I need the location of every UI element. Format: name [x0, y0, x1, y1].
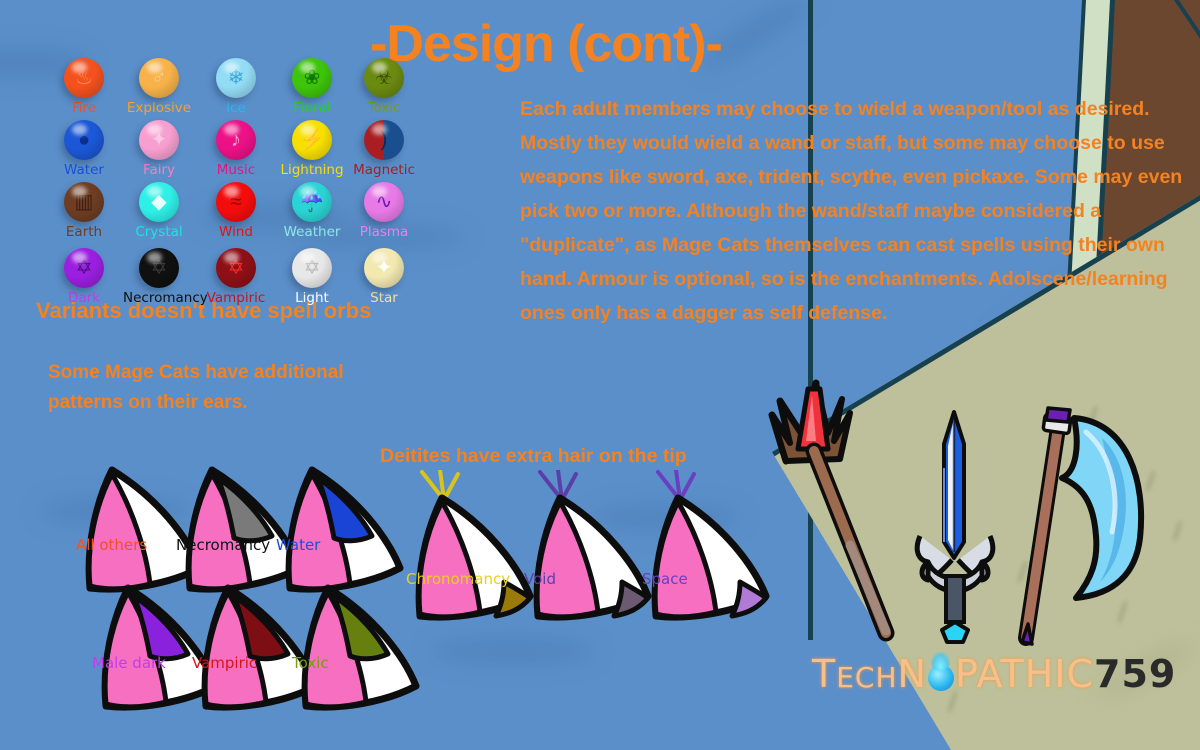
orb-cell-vampiric: ✡Vampiric [200, 248, 272, 306]
orb-glyph-weather: ☔ [292, 182, 332, 222]
orb-glyph-magnetic: ) [364, 120, 404, 160]
orb-cell-weather: ☔Weather [276, 182, 348, 240]
orb-cell-fairy: ✦Fairy [123, 120, 195, 178]
orb-glyph-toxic: ☣ [364, 58, 404, 98]
orb-cell-plasma: ∿Plasma [348, 182, 420, 240]
orb-label-water: Water [48, 162, 120, 178]
orb-cell-explosive: ♂Explosive [123, 58, 195, 116]
sword-weapon [900, 408, 1010, 653]
artist-watermark: TECHNPATHIC759 [812, 652, 1176, 696]
watermark-C: C [1067, 652, 1095, 696]
orb-label-light: Light [276, 290, 348, 306]
watermark-N: N [898, 652, 927, 696]
spell-orb-water-icon: ● [64, 120, 104, 160]
spell-orb-toxic-icon: ☣ [364, 58, 404, 98]
design-description: Each adult members may choose to wield a… [520, 92, 1200, 330]
orb-glyph-lightning: ⚡ [292, 120, 332, 160]
ear-label-space: Space [642, 570, 688, 588]
orb-cell-star: ✦Star [348, 248, 420, 306]
orb-label-star: Star [348, 290, 420, 306]
orb-label-music: Music [200, 162, 272, 178]
spell-orb-weather-icon: ☔ [292, 182, 332, 222]
orb-cell-necromancy: ✡Necromancy [123, 248, 195, 306]
spell-orb-light-icon: ✡ [292, 248, 332, 288]
watermark-ECH: ECH [836, 661, 897, 694]
orb-label-fairy: Fairy [123, 162, 195, 178]
ear-label-male-dark: Male dark [92, 654, 166, 672]
watermark-number: 759 [1094, 652, 1176, 696]
spell-orb-lightning-icon: ⚡ [292, 120, 332, 160]
spell-orb-star-icon: ✦ [364, 248, 404, 288]
orb-cell-music: ♪Music [200, 120, 272, 178]
page-title: -Design (cont)- [370, 14, 722, 74]
orb-cell-wind: ≈Wind [200, 182, 272, 240]
ear-label-necromancy: Necromancy [176, 536, 270, 554]
orb-cell-toxic: ☣Toxic [348, 58, 420, 116]
ear-label-vampiric: Vampiric [192, 654, 257, 672]
orb-label-necromancy: Necromancy [123, 290, 195, 306]
spell-orb-plasma-icon: ∿ [364, 182, 404, 222]
watermark-PATH: PATH [955, 652, 1054, 696]
orb-cell-lightning: ⚡Lightning [276, 120, 348, 178]
orb-label-magnetic: Magnetic [348, 162, 420, 178]
ear-label-toxic: Toxic [292, 654, 329, 672]
orb-cell-fire: ♨Fire [48, 58, 120, 116]
spell-orb-necromancy-icon: ✡ [139, 248, 179, 288]
orb-label-vampiric: Vampiric [200, 290, 272, 306]
orb-cell-ice: ❄Ice [200, 58, 272, 116]
ear-label-void: Void [524, 570, 556, 588]
orb-label-dark: Dark [48, 290, 120, 306]
orb-glyph-water: ● [64, 120, 104, 160]
orb-glyph-vampiric: ✡ [216, 248, 256, 288]
trident-spear-weapon [750, 375, 910, 650]
orb-cell-crystal: ◆Crystal [123, 182, 195, 240]
axe-weapon [1018, 392, 1200, 657]
ear-label-chronomancy: Chronomancy [406, 570, 510, 588]
spell-orb-explosive-icon: ♂ [139, 58, 179, 98]
orb-glyph-ice: ❄ [216, 58, 256, 98]
orb-label-weather: Weather [276, 224, 348, 240]
note-patterns: Some Mage Cats have additional patterns … [48, 358, 378, 418]
orb-glyph-crystal: ◆ [139, 182, 179, 222]
orb-glyph-music: ♪ [216, 120, 256, 160]
orb-glyph-fire: ♨ [64, 58, 104, 98]
spell-orb-music-icon: ♪ [216, 120, 256, 160]
orb-cell-earth: ▥Earth [48, 182, 120, 240]
orb-label-lightning: Lightning [276, 162, 348, 178]
ear-label-all-others: All others [76, 536, 147, 554]
orb-label-ice: Ice [200, 100, 272, 116]
ear-label-water: Water [276, 536, 320, 554]
orb-glyph-necromancy: ✡ [139, 248, 179, 288]
spell-orb-ice-icon: ❄ [216, 58, 256, 98]
orb-label-plasma: Plasma [348, 224, 420, 240]
orb-label-earth: Earth [48, 224, 120, 240]
orb-glyph-light: ✡ [292, 248, 332, 288]
orb-label-floral: Floral [276, 100, 348, 116]
spell-orb-vampiric-icon: ✡ [216, 248, 256, 288]
spell-orb-fire-icon: ♨ [64, 58, 104, 98]
spell-orb-fairy-icon: ✦ [139, 120, 179, 160]
wall-smudge [430, 638, 595, 664]
orb-glyph-explosive: ♂ [139, 58, 179, 98]
spell-orb-crystal-icon: ◆ [139, 182, 179, 222]
spell-orb-magnetic-icon: ) [364, 120, 404, 160]
artwork-canvas: -Design (cont)- Each adult members may c… [0, 0, 1200, 750]
spell-orb-floral-icon: ❀ [292, 58, 332, 98]
orb-cell-magnetic: )Magnetic [348, 120, 420, 178]
note-deities: Deitites have extra hair on the tip [380, 445, 687, 468]
orb-label-explosive: Explosive [123, 100, 195, 116]
orb-glyph-star: ✦ [364, 248, 404, 288]
spell-orb-earth-icon: ▥ [64, 182, 104, 222]
orb-cell-water: ●Water [48, 120, 120, 178]
orb-glyph-dark: ✡ [64, 248, 104, 288]
orb-glyph-fairy: ✦ [139, 120, 179, 160]
orb-glyph-earth: ▥ [64, 182, 104, 222]
spell-orb-wind-icon: ≈ [216, 182, 256, 222]
orb-cell-floral: ❀Floral [276, 58, 348, 116]
spell-orb-dark-icon: ✡ [64, 248, 104, 288]
orb-label-toxic: Toxic [348, 100, 420, 116]
orb-glyph-floral: ❀ [292, 58, 332, 98]
orb-cell-light: ✡Light [276, 248, 348, 306]
orb-glyph-wind: ≈ [216, 182, 256, 222]
watermark-I: I [1054, 652, 1066, 696]
watermark-T: T [812, 652, 836, 696]
orb-label-wind: Wind [200, 224, 272, 240]
orb-label-crystal: Crystal [123, 224, 195, 240]
orb-label-fire: Fire [48, 100, 120, 116]
spell-orb-grid: ♨Fire♂Explosive❄Ice❀Floral☣Toxic●Water✦F… [48, 58, 408, 298]
flame-orb-icon [928, 665, 954, 691]
orb-cell-dark: ✡Dark [48, 248, 120, 306]
orb-glyph-plasma: ∿ [364, 182, 404, 222]
